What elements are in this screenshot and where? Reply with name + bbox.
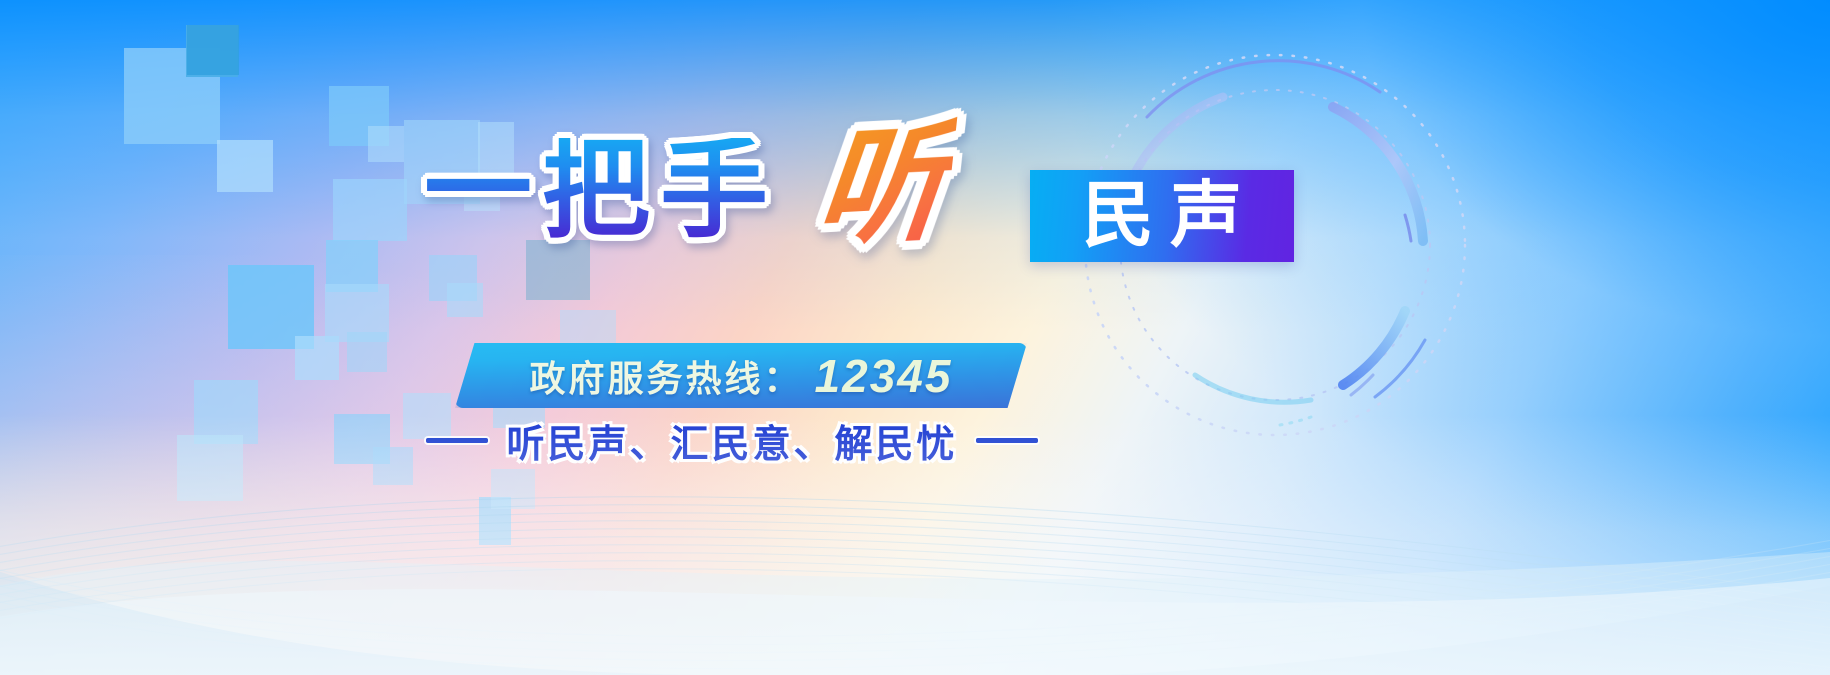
decorative-square (347, 332, 387, 372)
hotline-label: 政府服务热线： (530, 350, 803, 402)
decorative-square (187, 25, 239, 75)
title-brush-ting: 听 (811, 117, 958, 256)
hotline-ribbon[interactable]: 政府服务热线： 12345 (455, 343, 1027, 408)
title-part-yibashou: 一把手 (424, 138, 778, 246)
hotline-text-group: 政府服务热线： 12345 (455, 343, 1027, 408)
title-minsheng-box: 民声 (1030, 170, 1294, 262)
banner-root: 一把手 听 民声 政府服务热线： 12345 听民声、汇民意、解民忧 (0, 0, 1830, 675)
decorative-square (295, 336, 339, 380)
title-part-minsheng: 民声 (1066, 180, 1258, 252)
main-title: 一把手 听 民声 (0, 120, 1830, 270)
background-bottom-fade (0, 415, 1830, 675)
hotline-number: 12345 (815, 349, 953, 403)
decorative-square (447, 283, 483, 317)
